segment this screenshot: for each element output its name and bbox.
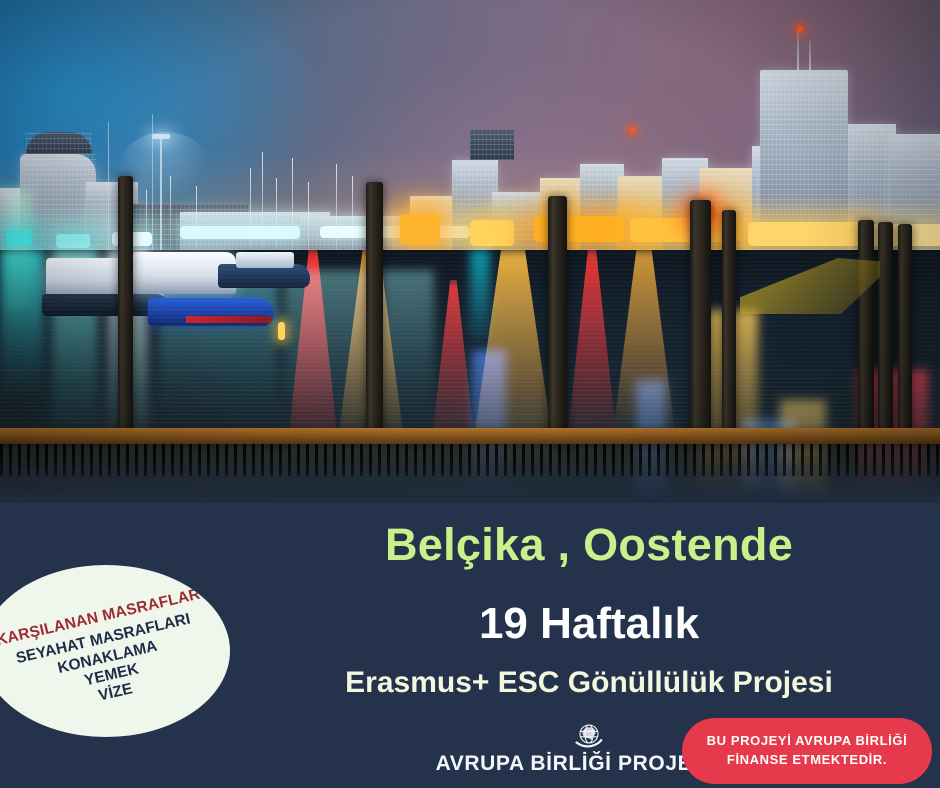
- heading-project: Erasmus+ ESC Gönüllülük Projesi: [0, 666, 940, 700]
- heading-location: Belçika , Oostende: [0, 519, 940, 571]
- covered-costs-badge: KARŞILANAN MASRAFLAR SEYAHAT MASRAFLARI …: [0, 565, 230, 737]
- heading-duration: 19 Haftalık: [0, 599, 940, 649]
- eu-funding-line-2: FİNANSE ETMEKTEDİR.: [727, 751, 887, 770]
- photo-bottom-fade: [0, 455, 940, 503]
- poster-root: KARŞILANAN MASRAFLAR SEYAHAT MASRAFLARI …: [0, 0, 940, 788]
- harbour-night-photo: [0, 0, 940, 503]
- eu-funding-line-1: BU PROJEYİ AVRUPA BİRLİĞİ: [707, 732, 908, 751]
- globe-icon: [572, 721, 606, 751]
- covered-costs-content: KARŞILANAN MASRAFLAR SEYAHAT MASRAFLARI …: [0, 565, 230, 737]
- photo-vignette: [0, 0, 940, 503]
- eu-funding-badge: BU PROJEYİ AVRUPA BİRLİĞİ FİNANSE ETMEKT…: [682, 718, 932, 784]
